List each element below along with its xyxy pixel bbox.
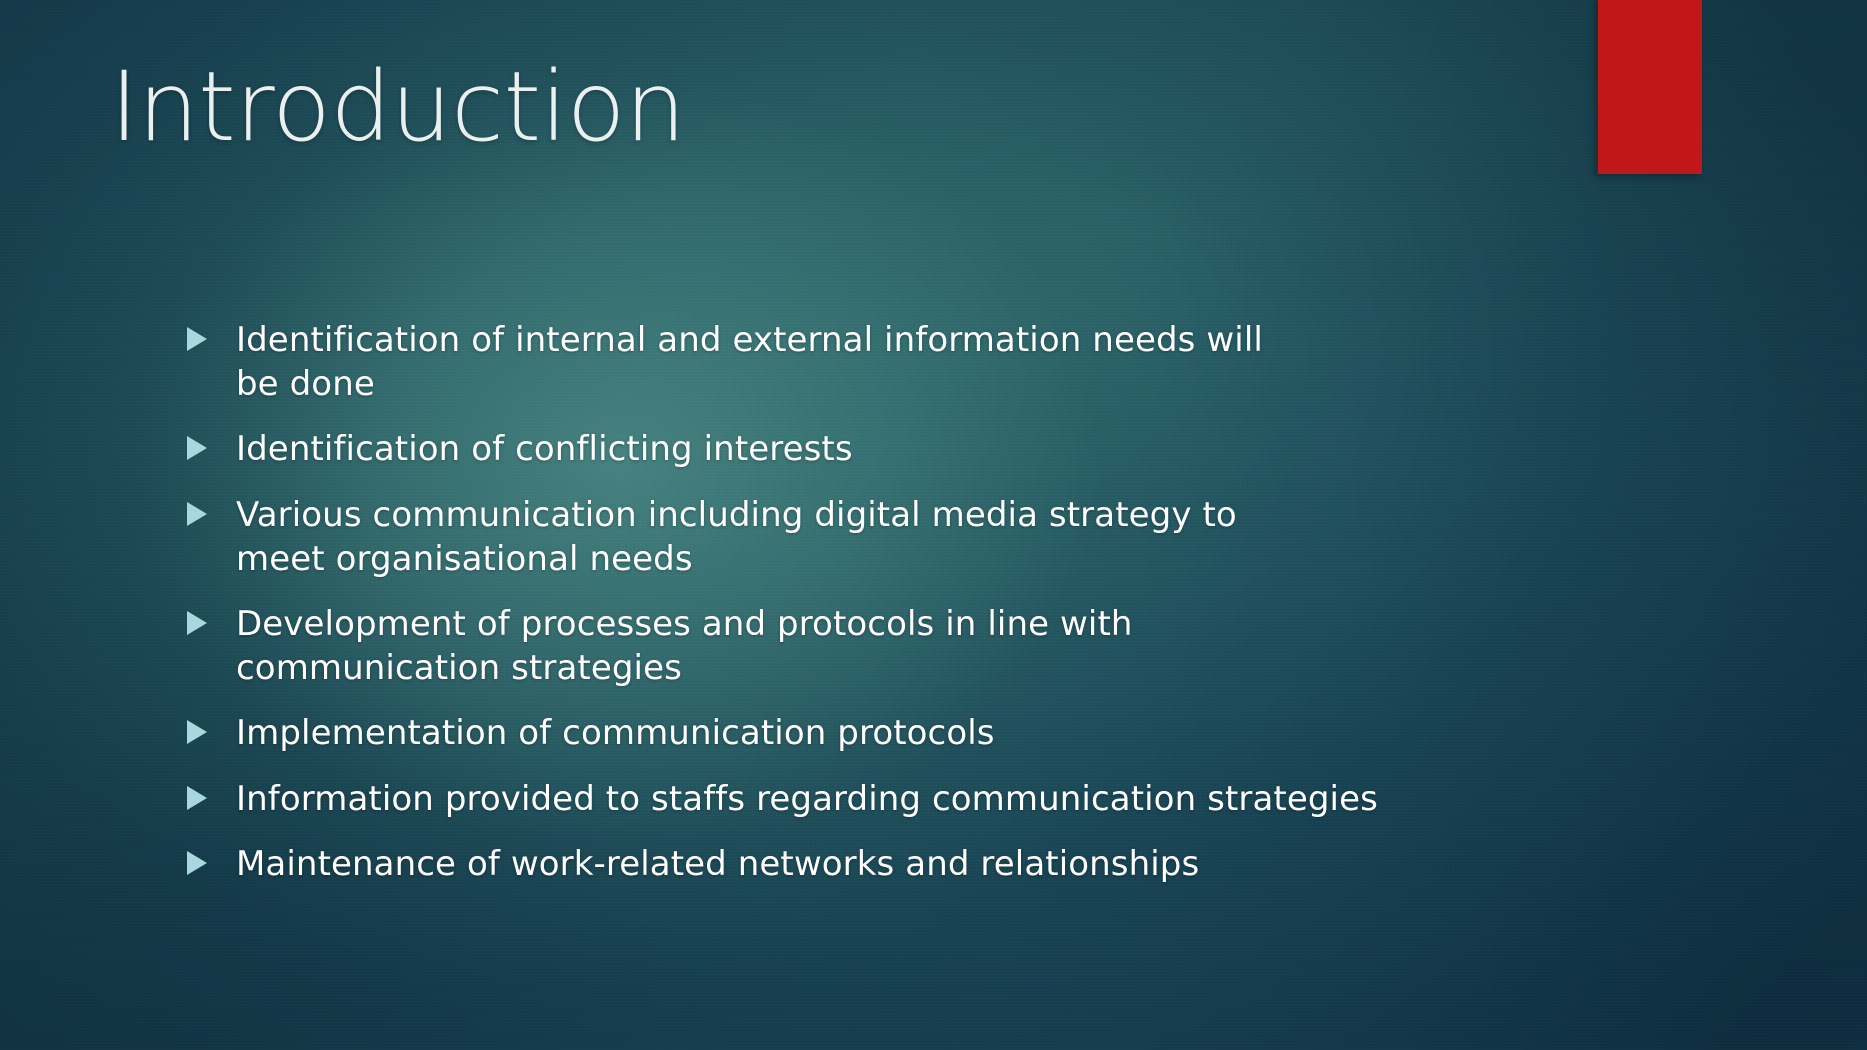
bullet-list-item[interactable]: Identification of internal and external … <box>186 318 1546 406</box>
bullet-list-item[interactable]: Implementation of communication protocol… <box>186 711 1546 755</box>
bullet-text: Identification of internal and external … <box>236 318 1266 406</box>
triangle-right-icon <box>186 850 208 876</box>
triangle-right-icon <box>186 326 208 352</box>
triangle-right-icon <box>186 785 208 811</box>
bullet-list-item[interactable]: Identification of conflicting interests <box>186 427 1546 471</box>
bullet-list-item[interactable]: Various communication including digital … <box>186 493 1546 581</box>
bullet-list-item[interactable]: Development of processes and protocols i… <box>186 602 1546 690</box>
presentation-slide: Introduction Identification of internal … <box>0 0 1867 1050</box>
bullet-text: Various communication including digital … <box>236 493 1291 581</box>
triangle-right-icon <box>186 719 208 745</box>
red-accent-bar <box>1598 0 1702 174</box>
bullet-list-item[interactable]: Information provided to staffs regarding… <box>186 777 1546 821</box>
bullet-text: Implementation of communication protocol… <box>236 711 1436 755</box>
triangle-right-icon <box>186 610 208 636</box>
slide-title: Introduction <box>110 56 685 160</box>
bullet-list-item[interactable]: Maintenance of work-related networks and… <box>186 842 1546 886</box>
bullet-text: Information provided to staffs regarding… <box>236 777 1436 821</box>
bullet-text: Maintenance of work-related networks and… <box>236 842 1436 886</box>
triangle-right-icon <box>186 501 208 527</box>
slide-body-placeholder: Identification of internal and external … <box>186 318 1546 907</box>
bullet-text: Development of processes and protocols i… <box>236 602 1266 690</box>
triangle-right-icon <box>186 435 208 461</box>
bullet-text: Identification of conflicting interests <box>236 427 1436 471</box>
